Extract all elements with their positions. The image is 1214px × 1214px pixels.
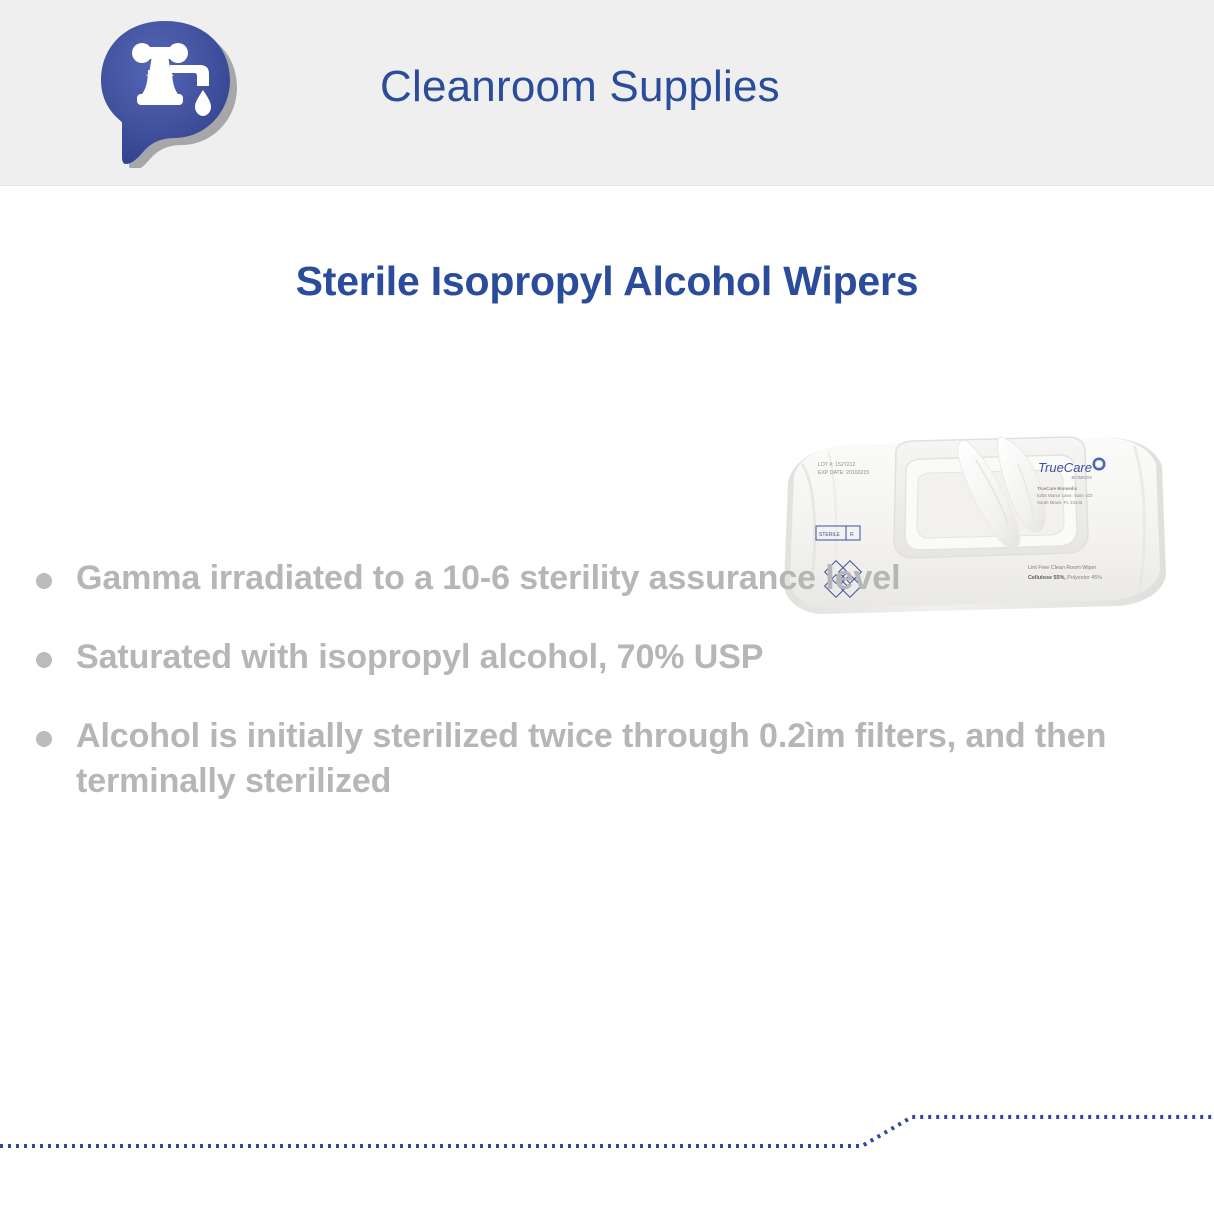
page-title-header: Cleanroom Supplies [380,62,780,112]
brand-sub-text: BIOMEDIX [1072,475,1093,480]
brand-logo[interactable] [90,18,240,168]
svg-text:STERILE: STERILE [819,532,841,538]
product-title: Sterile Isopropyl Alcohol Wipers [0,258,1214,305]
list-item: Saturated with isopropyl alcohol, 70% US… [28,635,1188,680]
bullet-dot-icon [36,573,52,589]
exp-date-line: EXP DATE: 20160215 [818,470,869,476]
bullet-text: Gamma irradiated to a 10-6 sterility ass… [76,559,900,597]
list-item: Gamma irradiated to a 10-6 sterility ass… [28,556,1188,601]
bullet-dot-icon [36,652,52,668]
svg-text:R: R [850,532,854,538]
bullet-text: Saturated with isopropyl alcohol, 70% US… [76,638,763,676]
bullet-text: Alcohol is initially sterilized twice th… [76,717,1106,800]
lot-number-line: LOT #: 1527212 [818,462,856,468]
dotted-step-line [0,1117,1214,1146]
address-line-2: 6206 Manor Lane, Suite 103 [1037,493,1093,498]
page-header: Cleanroom Supplies [0,0,1214,186]
address-line-1: TrueCare Biomedix [1037,486,1078,491]
bullet-dot-icon [36,731,52,747]
list-item: Alcohol is initially sterilized twice th… [28,714,1188,804]
address-line-3: South Miami, FL 33143 [1037,500,1083,505]
feature-bullet-list: Gamma irradiated to a 10-6 sterility ass… [28,556,1188,804]
bottom-divider [0,1090,1214,1214]
brand-name-text: TrueCare [1038,460,1092,475]
